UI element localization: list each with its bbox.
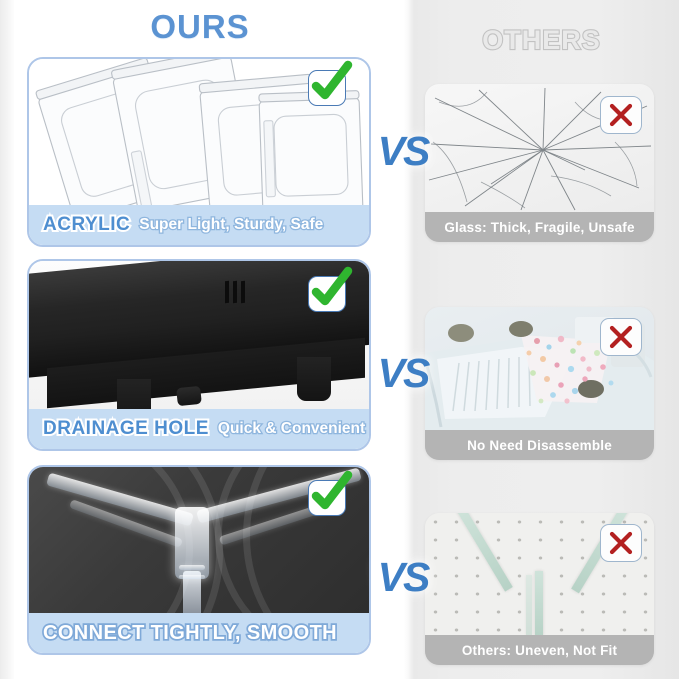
left-edge-strip: [0, 0, 14, 679]
ours-caption-drainage: DRAINAGE HOLE Quick & Convenient: [29, 409, 369, 449]
page-title-others: OTHERS: [404, 25, 679, 56]
check-icon-row3: [304, 476, 350, 518]
seam-vertical: [535, 571, 543, 635]
check-icon-row1: [304, 66, 350, 108]
ours-pill-label-1: ACRYLIC: [43, 214, 130, 236]
others-caption-disassemble: No Need Disassemble: [425, 430, 654, 460]
vs-separator-row3: VS: [368, 554, 438, 601]
others-caption-fit: Others: Uneven, Not Fit: [425, 635, 654, 665]
vs-separator-row2: VS: [368, 350, 438, 397]
check-mark-icon: [304, 469, 356, 521]
ours-caption-connector: CONNECT TIGHTLY, SMOOTH: [29, 613, 369, 653]
check-mark-icon: [304, 59, 356, 111]
ours-sub-label-1: Super Light, Sturdy, Safe: [139, 216, 323, 234]
ours-pill-label-3: CONNECT TIGHTLY, SMOOTH: [43, 622, 337, 645]
others-caption-glass: Glass: Thick, Fragile, Unsafe: [425, 212, 654, 242]
x-mark-icon: [606, 528, 636, 558]
vs-separator-row1: VS: [368, 128, 438, 175]
seam-vertical-gap: [526, 575, 532, 635]
x-icon-row3: [600, 524, 642, 562]
check-icon-row2: [304, 272, 350, 314]
x-icon-row1: [600, 96, 642, 134]
ours-caption-acrylic: ACRYLIC Super Light, Sturdy, Safe: [29, 205, 369, 245]
x-mark-icon: [606, 322, 636, 352]
check-mark-icon: [304, 265, 356, 317]
page-title-ours: OURS: [0, 8, 400, 46]
ours-pill-label-2: DRAINAGE HOLE: [43, 418, 209, 440]
x-mark-icon: [606, 100, 636, 130]
x-icon-row2: [600, 318, 642, 356]
comparison-infographic: OURS OTHERS: [0, 0, 679, 679]
ours-sub-label-2: Quick & Convenient: [218, 420, 365, 438]
